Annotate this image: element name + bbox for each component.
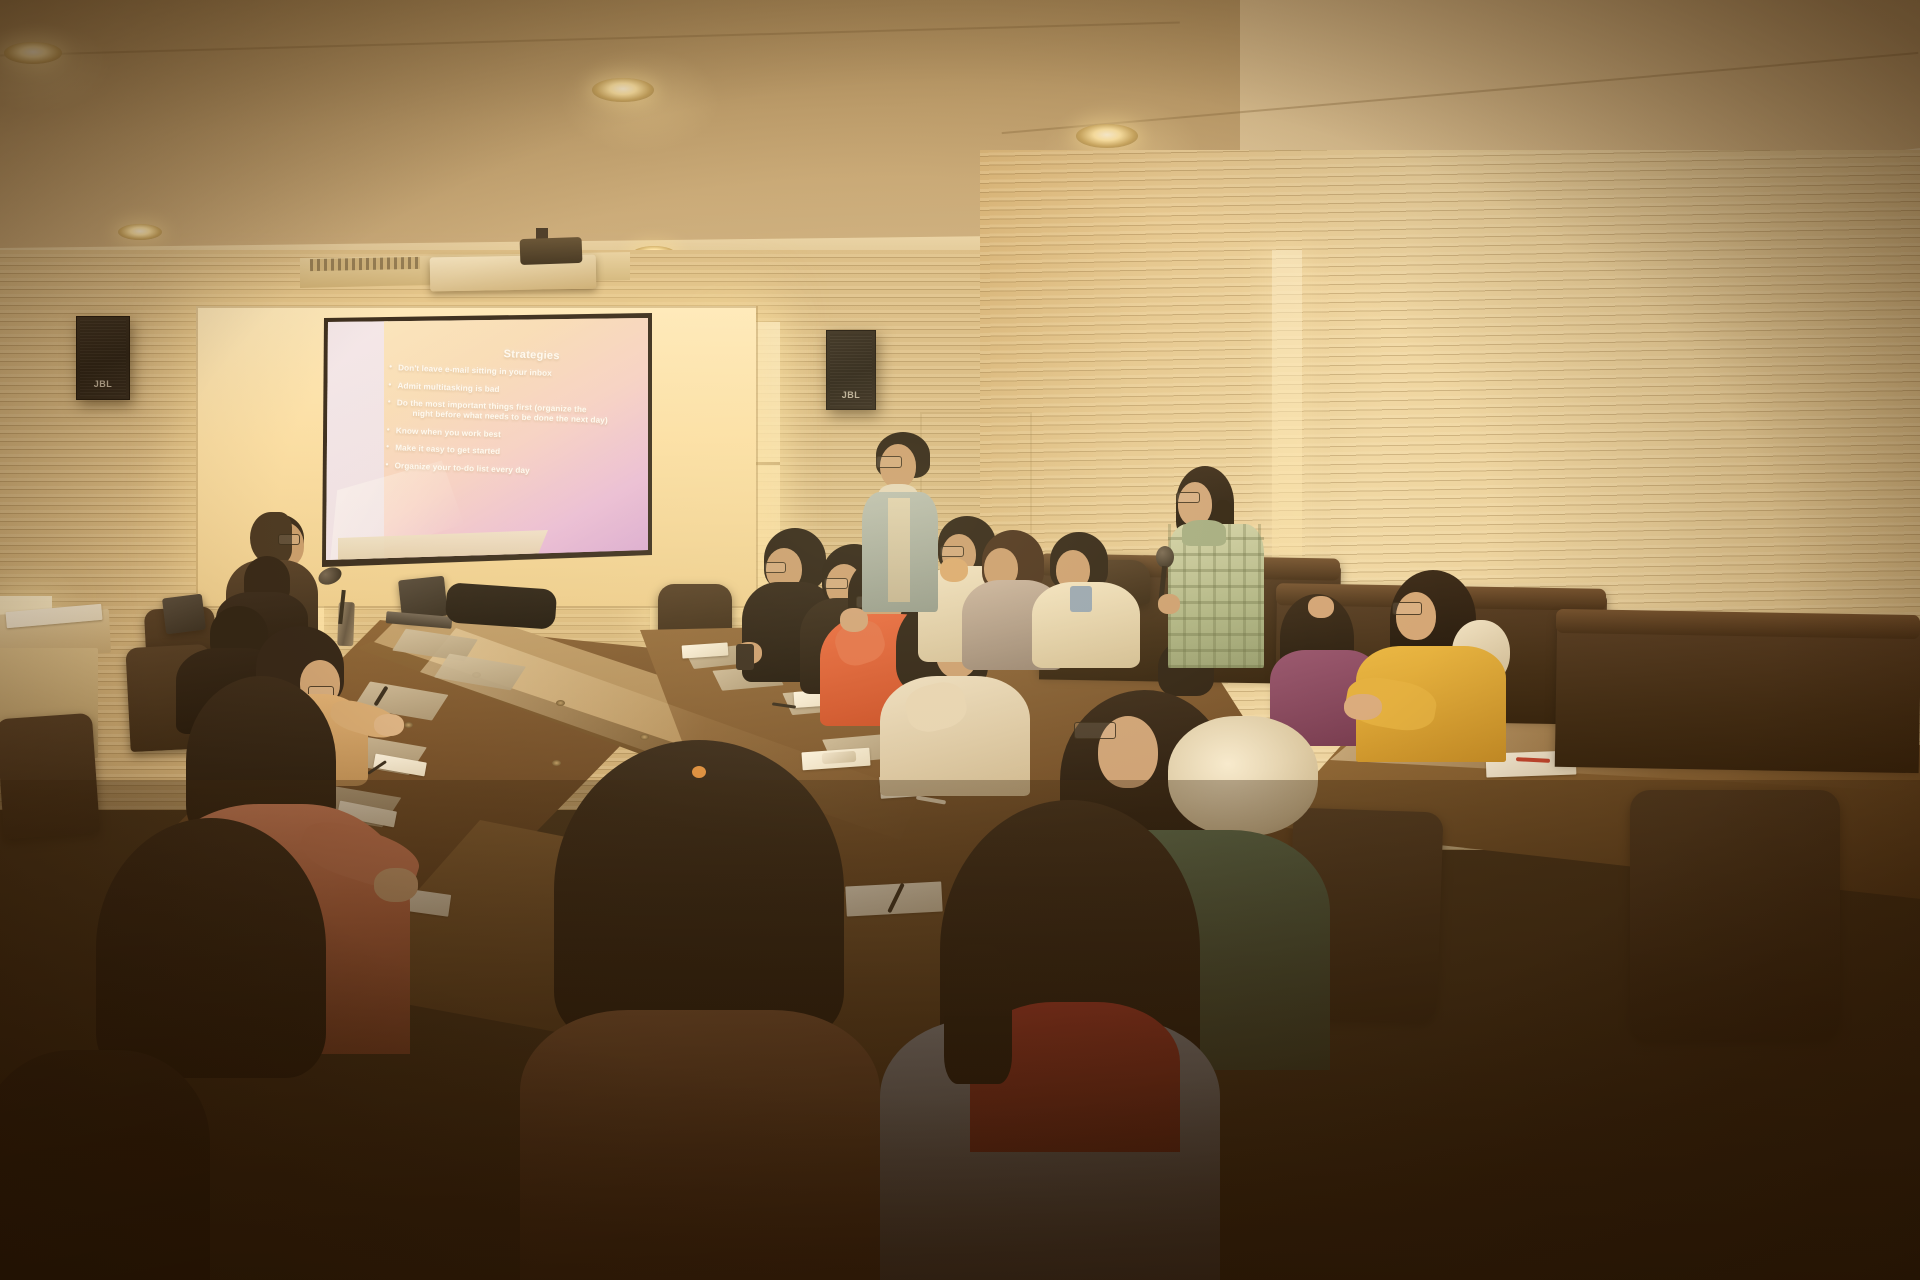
hand <box>374 714 404 736</box>
slide-text-block: Strategies Don't leave e-mail sitting in… <box>385 344 640 487</box>
hairpin <box>692 766 706 778</box>
ceiling-downlight-icon <box>4 42 62 64</box>
leather-bench <box>1555 617 1920 773</box>
hand <box>940 558 968 582</box>
wall-speaker-left: JBL <box>76 316 130 400</box>
table-grommet <box>404 722 413 728</box>
inner-hoodie <box>888 498 910 602</box>
hand <box>1158 594 1180 614</box>
table-grommet <box>552 760 561 766</box>
glasses-icon <box>876 456 902 468</box>
glasses-icon <box>278 534 300 545</box>
glasses-icon <box>764 562 786 573</box>
table-grommet <box>556 700 565 706</box>
ceiling-vent <box>310 257 420 271</box>
laptop <box>162 594 206 635</box>
glasses-icon <box>940 546 964 557</box>
smartphone <box>822 751 857 764</box>
backpack <box>445 582 558 630</box>
head <box>1396 592 1436 640</box>
slide-bullet: Don't leave e-mail sitting in your inbox <box>389 363 639 382</box>
glasses-icon <box>1074 722 1116 739</box>
table-grommet <box>640 734 649 740</box>
slide-bullet: Do the most important things first (orga… <box>387 398 638 427</box>
floor-shadow <box>0 780 1920 1280</box>
smartphone <box>736 644 754 670</box>
ceiling-downlight-icon <box>592 78 654 102</box>
glasses-icon <box>1176 492 1200 503</box>
wall-speaker-right: JBL <box>826 330 876 410</box>
slide-bullet: Admit multitasking is bad <box>388 380 638 399</box>
projection-screen: Strategies Don't leave e-mail sitting in… <box>326 318 648 560</box>
collar <box>1182 520 1226 546</box>
glasses-icon <box>824 578 848 589</box>
projector-lens-icon <box>520 237 583 265</box>
hand <box>1308 596 1334 618</box>
downlight-glow <box>560 48 720 153</box>
collar <box>1070 586 1092 612</box>
ceiling-downlight-icon <box>118 224 162 240</box>
handheld-microphone <box>1156 546 1174 568</box>
conference-room-photo: JBL JBL Strategies Don't leave e-mail si… <box>0 0 1920 1280</box>
hand <box>1344 694 1382 720</box>
slide-bullet: Know when you work best <box>387 425 637 444</box>
speaker-brand-label: JBL <box>94 379 113 389</box>
slide-bullet: Make it easy to get started <box>386 443 636 462</box>
glasses-icon <box>1392 602 1422 615</box>
ceiling-downlight-icon <box>1076 124 1138 148</box>
speaker-brand-label: JBL <box>842 390 861 400</box>
